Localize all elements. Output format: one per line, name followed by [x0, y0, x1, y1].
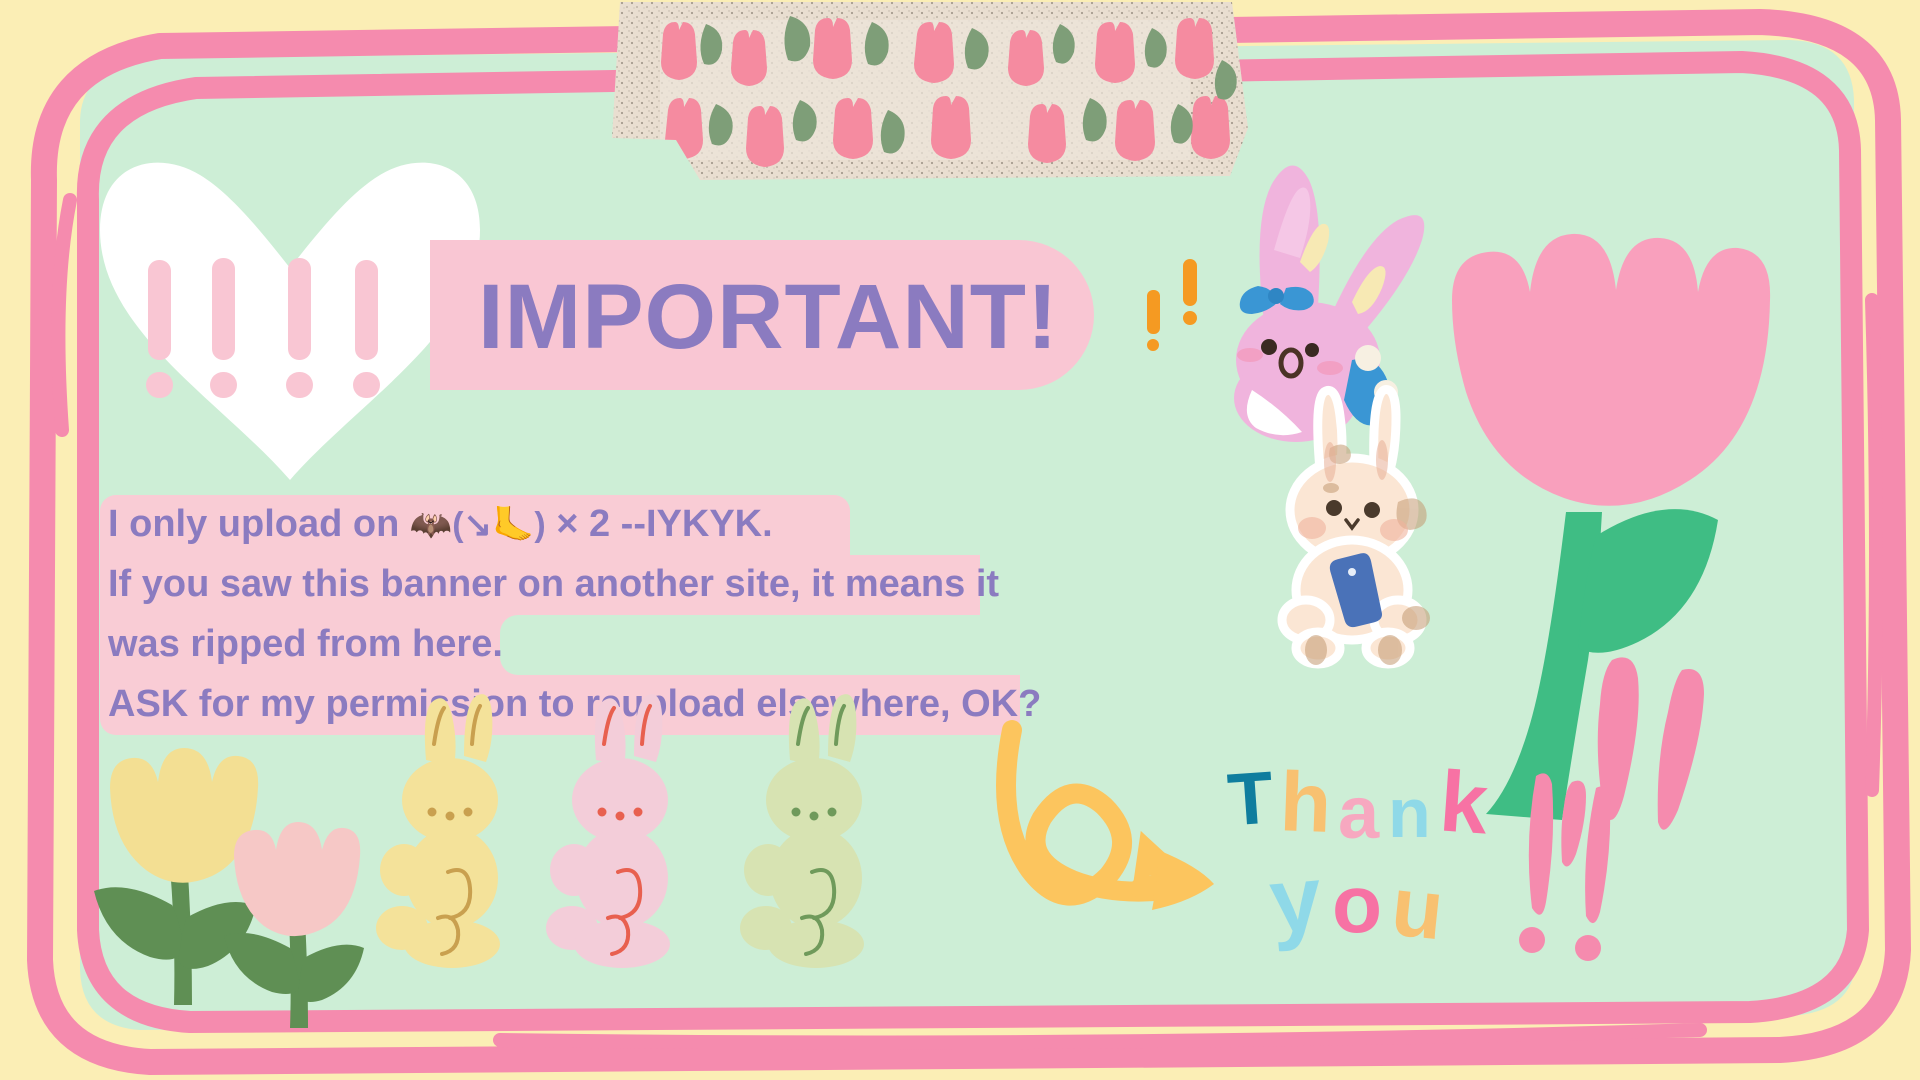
- pink-exclamation-marks: [0, 0, 1920, 1080]
- banner-canvas: IMPORTANT! I only upload on 🦇(↘🦶) × 2 --…: [0, 0, 1920, 1080]
